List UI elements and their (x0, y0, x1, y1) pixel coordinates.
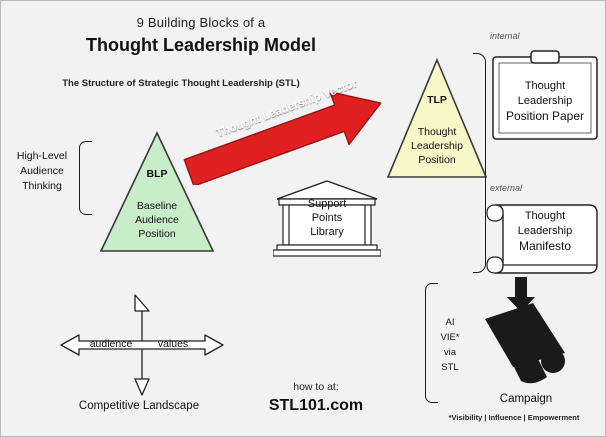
left-brace (79, 141, 92, 215)
position-paper-line-2: Leadership (493, 94, 597, 109)
avs-line-1: AI (433, 315, 467, 330)
avs-line-2: VIE* (433, 330, 467, 345)
megaphone-icon (481, 301, 577, 394)
megaphone-shape (481, 301, 577, 389)
manifesto-line-3: Manifesto (493, 239, 597, 254)
library-label: Support Points Library (278, 197, 376, 239)
ai-vie-via-stl-label: AI VIE* via STL (433, 315, 467, 375)
manifesto-line-1: Thought (493, 209, 597, 224)
site-url: STL101.com (251, 397, 381, 415)
page-title: Thought Leadership Model (1, 35, 401, 56)
blp-line-1: Baseline (97, 199, 217, 213)
high-level-audience-thinking-label: High-Level Audience Thinking (5, 149, 79, 194)
library-line-1: Support (278, 197, 376, 211)
title-line-1: 9 Building Blocks of a (1, 15, 401, 30)
library-line-3: Library (278, 225, 376, 239)
how-to-label: how to at: (251, 381, 381, 393)
thought-leadership-vector-arrow (179, 93, 401, 190)
position-paper-line-3: Position Paper (493, 109, 597, 124)
manifesto-label: Thought Leadership Manifesto (493, 209, 597, 254)
diagram-canvas: 9 Building Blocks of a Thought Leadershi… (0, 0, 606, 437)
campaign-label: Campaign (471, 393, 581, 405)
campaign-footnote: *Visibility | Influence | Empowerment (425, 413, 603, 422)
audience-label: audience (79, 338, 143, 350)
left-label-line-1: High-Level (5, 149, 79, 164)
external-label: external (490, 183, 550, 193)
avs-line-4: STL (433, 360, 467, 375)
avs-line-3: via (433, 345, 467, 360)
competitive-landscape-label: Competitive Landscape (51, 400, 227, 412)
library-line-2: Points (278, 211, 376, 225)
position-paper-label: Thought Leadership Position Paper (493, 79, 597, 124)
left-label-line-3: Thinking (5, 179, 79, 194)
values-label: values (145, 338, 201, 350)
blp-line-2: Audience (97, 213, 217, 227)
left-label-line-2: Audience (5, 164, 79, 179)
vector-arrow-shape (179, 93, 401, 185)
blp-line-3: Position (97, 227, 217, 241)
internal-label: internal (490, 31, 550, 41)
subtitle: The Structure of Strategic Thought Leade… (31, 77, 331, 90)
manifesto-line-2: Leadership (493, 224, 597, 239)
position-paper-line-1: Thought (493, 79, 597, 94)
